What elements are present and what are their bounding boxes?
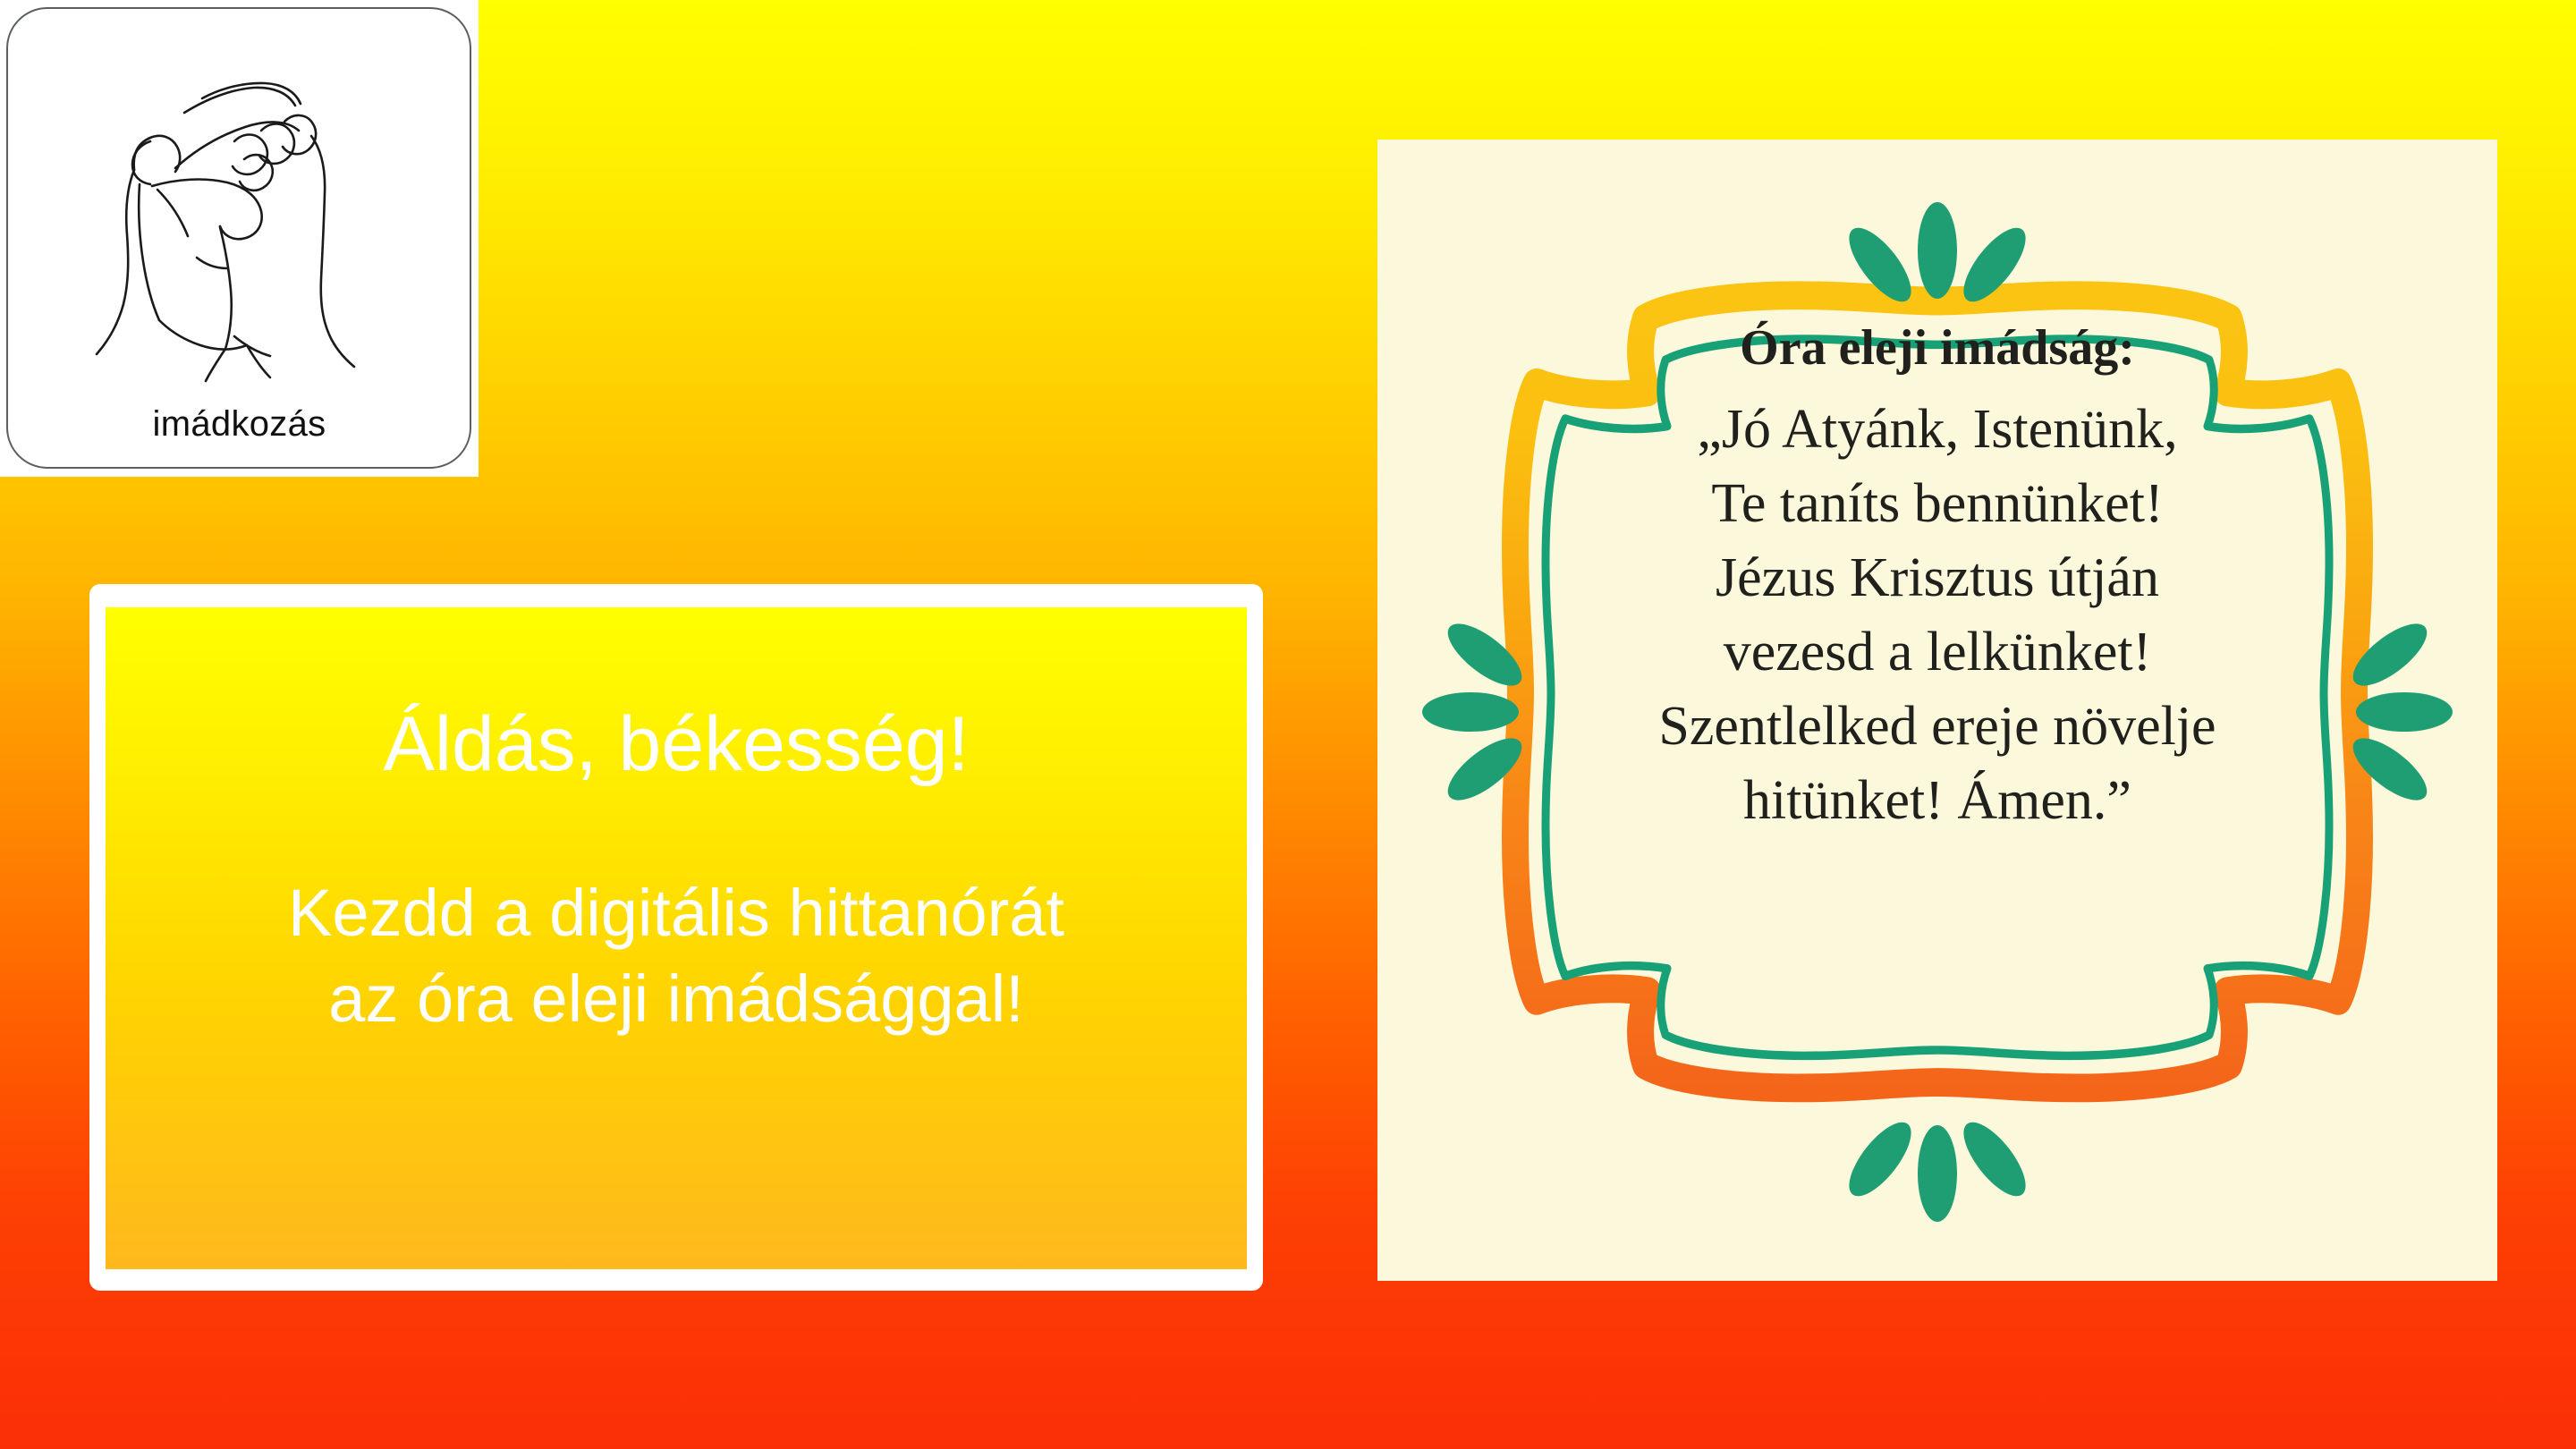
- prayer-title: Óra eleji imádság:: [1503, 315, 2372, 382]
- prayer-line-3: Jézus Krisztus útján: [1503, 541, 2372, 615]
- message-box: Áldás, békesség! Kezdd a digitális hitta…: [89, 584, 1263, 1291]
- prayer-line-2: Te taníts bennünket!: [1503, 467, 2372, 541]
- message-body: Kezdd a digitális hittanórát az óra elej…: [288, 870, 1064, 1042]
- pictogram-label: imádkozás: [0, 404, 479, 445]
- message-box-inner: Áldás, békesség! Kezdd a digitális hitta…: [106, 607, 1247, 1269]
- prayer-line-5: Szentlelked ereje növelje: [1503, 690, 2372, 764]
- prayer-line-6: hitünket! Ámen.”: [1503, 764, 2372, 838]
- prayer-line-1: „Jó Atyánk, Istenünk,: [1503, 393, 2372, 467]
- message-body-line-2: az óra eleji imádsággal!: [288, 956, 1064, 1042]
- prayer-text-block: Óra eleji imádság: „Jó Atyánk, Istenünk,…: [1503, 315, 2372, 839]
- pictogram-card: imádkozás: [0, 0, 479, 477]
- message-heading: Áldás, békesség!: [384, 704, 970, 784]
- prayer-line-4: vezesd a lelkünket!: [1503, 615, 2372, 690]
- message-body-line-1: Kezdd a digitális hittanórát: [288, 870, 1064, 956]
- leaf-trio-ornament-bottom: [1838, 1113, 2036, 1222]
- praying-hands-illustration: [27, 36, 438, 394]
- prayer-card: Óra eleji imádság: „Jó Atyánk, Istenünk,…: [1377, 140, 2497, 1281]
- slide-root: imádkozás Áldás, békesség! Kezdd a digit…: [0, 0, 2576, 1449]
